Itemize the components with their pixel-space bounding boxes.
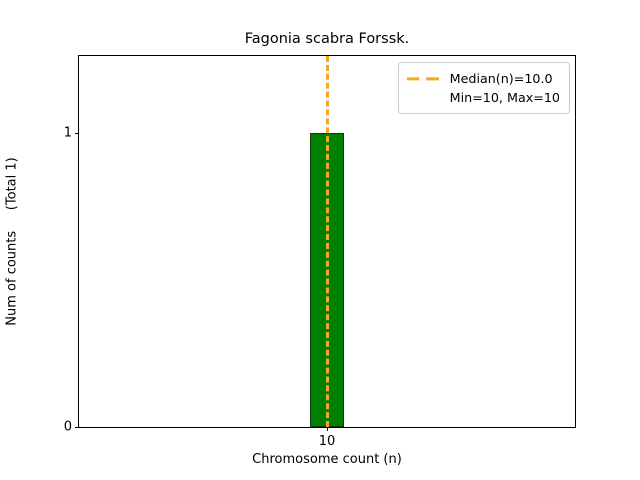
- y-axis-label-line1: Num of counts: [5, 231, 20, 326]
- median-line: [326, 56, 329, 427]
- chart-legend[interactable]: Median(n)=10.0 Min=10, Max=10: [398, 62, 570, 114]
- legend-label-minmax: Min=10, Max=10: [450, 90, 560, 105]
- y-axis-label-text: Num of counts (Total 1): [5, 157, 20, 325]
- plot-area: 01 10 Median(n)=10.0 Min=10, Max=10: [78, 55, 576, 428]
- y-tick-label: 0: [64, 421, 72, 434]
- legend-label-median: Median(n)=10.0: [450, 71, 553, 86]
- y-tick-label: 1: [64, 126, 72, 139]
- y-axis-label: Num of counts (Total 1): [0, 55, 24, 428]
- y-tick-mark: [75, 133, 79, 134]
- legend-entry-median[interactable]: Median(n)=10.0: [407, 69, 560, 88]
- chart-title: Fagonia scabra Forssk.: [78, 30, 576, 48]
- x-tick-label: 10: [319, 435, 336, 448]
- legend-entry-minmax[interactable]: Min=10, Max=10: [407, 88, 560, 107]
- y-axis-label-line2: (Total 1): [5, 157, 20, 210]
- x-axis-label: Chromosome count (n): [78, 452, 576, 467]
- dashed-line-icon: [407, 73, 440, 85]
- chart-figure: Fagonia scabra Forssk. Num of counts (To…: [0, 0, 640, 480]
- y-tick-mark: [75, 427, 79, 428]
- x-tick-mark: [327, 427, 328, 431]
